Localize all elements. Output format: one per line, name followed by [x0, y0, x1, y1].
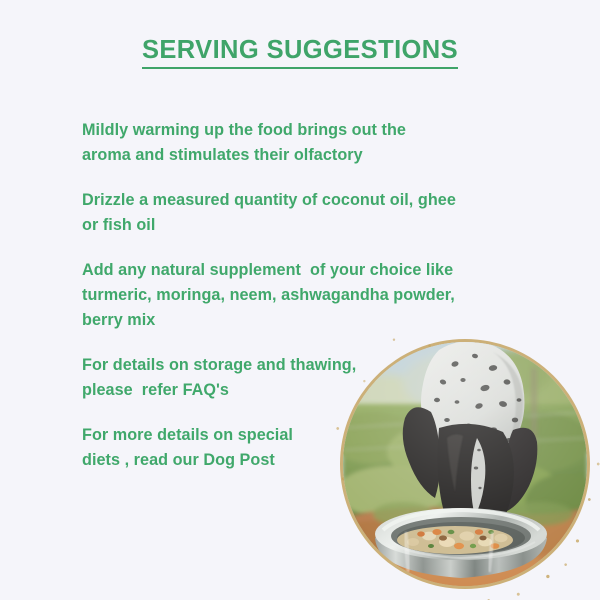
- suggestion-paragraph-2: Drizzle a measured quantity of coconut o…: [82, 188, 482, 238]
- dog-photo-container: [343, 342, 587, 586]
- suggestion-paragraph-3: Add any natural supplement of your choic…: [82, 258, 482, 333]
- serving-suggestions-card: SERVING SUGGESTIONS Mildly warming up th…: [0, 0, 600, 600]
- suggestion-paragraph-1: Mildly warming up the food brings out th…: [82, 118, 482, 168]
- page-title: SERVING SUGGESTIONS: [0, 36, 600, 69]
- dog-eating-from-bowl-photo: [343, 342, 587, 586]
- page-title-text: SERVING SUGGESTIONS: [142, 36, 458, 69]
